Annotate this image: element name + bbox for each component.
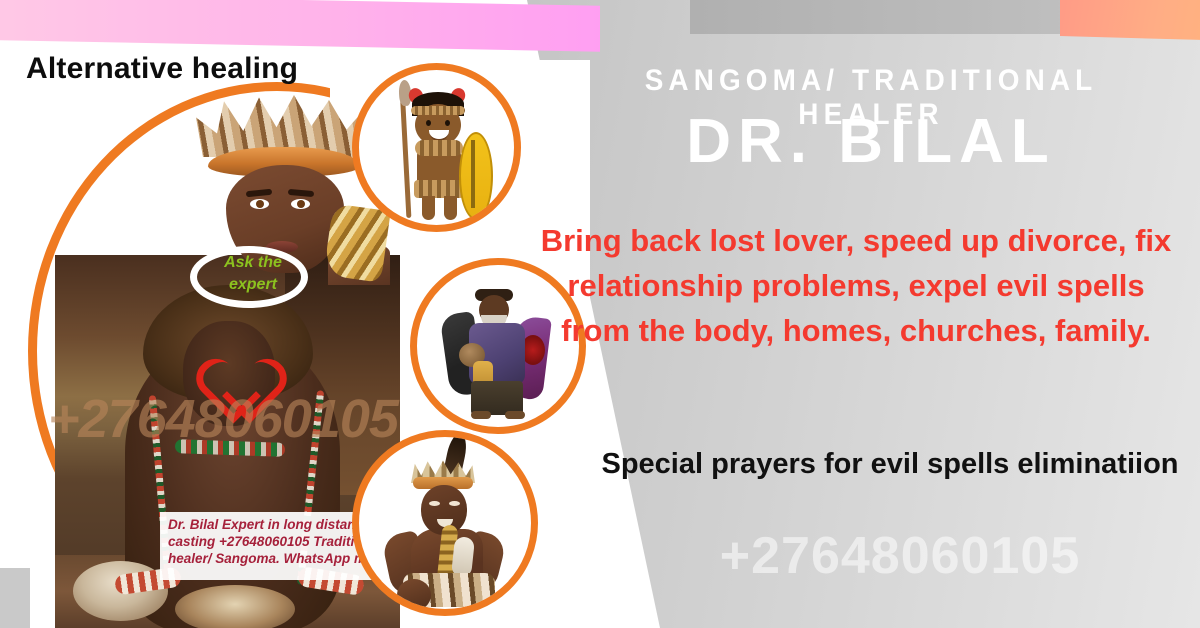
services-text: Bring back lost lover, speed up divorce,… bbox=[540, 218, 1172, 353]
robed-foot-left bbox=[471, 411, 491, 419]
photo-hands bbox=[175, 585, 295, 628]
top-pink-band bbox=[0, 0, 600, 52]
top-orange-band bbox=[1060, 0, 1200, 42]
robed-foot-right bbox=[505, 411, 525, 419]
warrior-shield bbox=[459, 132, 493, 220]
sangoma-eye-right bbox=[449, 501, 460, 506]
healer-name: DR. BILAL bbox=[566, 106, 1176, 177]
sangoma-eye-left bbox=[429, 501, 440, 506]
warrior-shield-spine bbox=[471, 140, 475, 208]
warrior-headband bbox=[411, 106, 465, 115]
ghost-phone-number: +27648060105 bbox=[610, 526, 1190, 586]
robed-pants bbox=[471, 381, 523, 415]
badge-zulu-warrior bbox=[352, 63, 521, 232]
warrior-fur-collar bbox=[415, 140, 463, 156]
figure-pupil-left bbox=[256, 200, 264, 208]
poster-canvas: Alternative healing +27648060105 Dr. Bil… bbox=[0, 0, 1200, 628]
warrior-leg-right bbox=[444, 196, 457, 220]
heart-icon bbox=[192, 332, 256, 390]
warrior-eye-right bbox=[445, 120, 450, 126]
warrior-eye-left bbox=[426, 120, 431, 126]
badge-crouching-sangoma bbox=[352, 430, 538, 616]
page-title: Alternative healing bbox=[26, 52, 298, 86]
sangoma-knee bbox=[397, 579, 431, 611]
warrior-leg-left bbox=[422, 196, 435, 220]
prayers-text: Special prayers for evil spells eliminat… bbox=[600, 443, 1180, 485]
figure-beaded-sash bbox=[323, 203, 390, 282]
photo-watermark-number: +27648060105 bbox=[48, 388, 448, 450]
figure-pupil-right bbox=[297, 200, 305, 208]
bottom-gray-shape-edge bbox=[0, 568, 30, 628]
speech-bubble-text: Ask the expert bbox=[205, 252, 301, 296]
warrior-spear-shaft bbox=[400, 88, 412, 218]
